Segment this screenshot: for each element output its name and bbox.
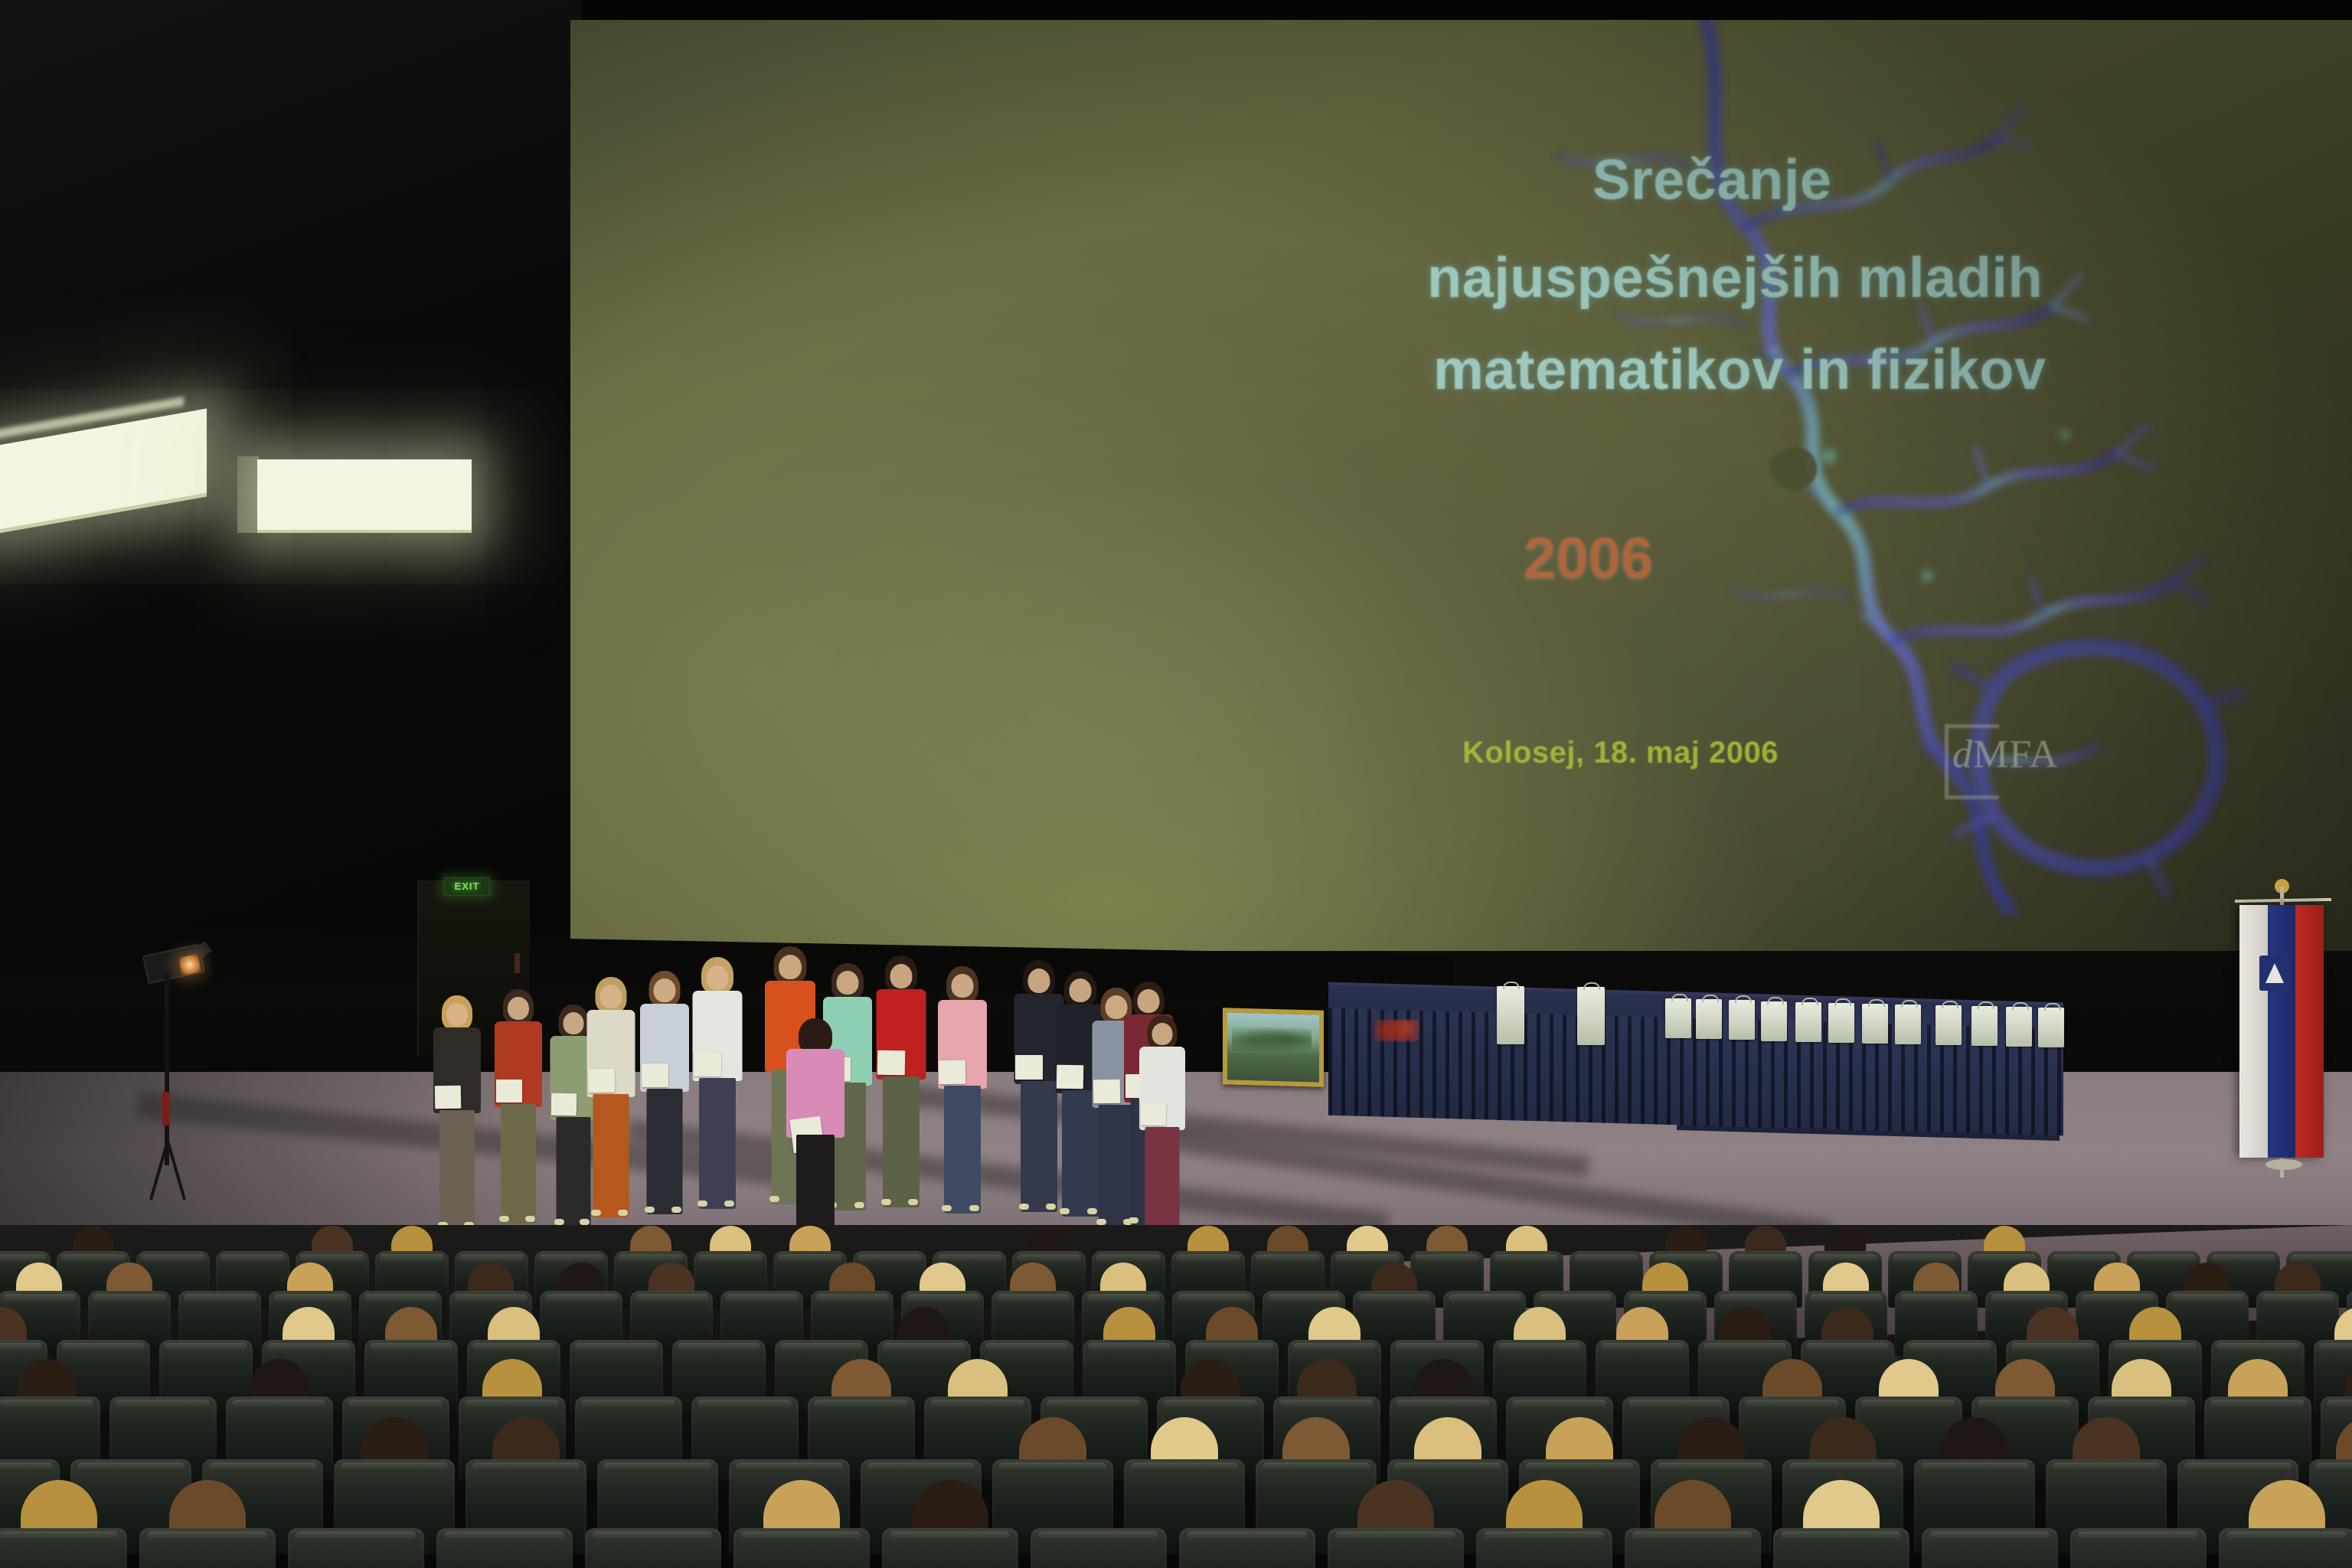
participant-head [779,955,802,979]
flag-stand-base [2265,1159,2302,1170]
participant-paper [435,1086,462,1109]
prize-bag [1497,986,1524,1044]
dmfa-logo: dMFA [1952,732,2059,777]
cinema-seat [436,1528,573,1568]
participant-shoe [1019,1204,1029,1210]
participant-shoe [881,1199,891,1205]
flag-stripe-white [2239,905,2268,1158]
participant-paper [1141,1103,1167,1126]
flag-stripe-blue [2268,905,2296,1158]
prize-bag [1828,1003,1854,1043]
participant-legs [439,1110,475,1230]
slide-year: 2006 [1524,525,1653,592]
conductor [781,1018,850,1256]
slide-title-line-1: Srečanje [1592,152,1832,208]
cinema-seat [139,1528,276,1568]
participant-paper [939,1060,966,1085]
cinema-seat [2070,1528,2207,1568]
table-flower-decoration [1374,1020,1419,1041]
participant-shoe [580,1219,590,1225]
slovenian-flag [2239,879,2330,1178]
cinema-seat [288,1528,424,1568]
slide-title-line-3: matematikov in fizikov [1433,341,2047,398]
participant-paper [642,1063,668,1087]
slide-title-line-2: najuspešnejših mladih [1427,250,2043,306]
cinema-seat [0,1528,127,1568]
cinema-seat [1179,1528,1315,1568]
cinema-seat [1476,1528,1612,1568]
flag-coat-of-arms [2259,955,2290,991]
cinema-seat [1922,1528,2058,1568]
dmfa-logo-d: d [1952,733,1973,776]
participant-legs [699,1078,736,1209]
stage-participant [582,977,639,1213]
participant-head [446,1003,468,1026]
participant-head [654,978,676,1002]
prize-bag [2038,1008,2064,1047]
prize-bag [1935,1005,1962,1045]
stage-light-leg [166,1140,186,1200]
participant-paper [1057,1065,1084,1089]
participant-paper [588,1069,616,1093]
slide-venue-date: Kolosej, 18. maj 2006 [1462,736,1779,770]
stage-light-pole [165,974,169,1165]
participant-head [508,997,529,1020]
participant-shoe [969,1205,979,1211]
participant-shoe [671,1207,681,1213]
stage-participant [1135,1015,1190,1233]
participant-paper [877,1050,906,1076]
participant-head [951,974,973,998]
stage-participant [490,989,547,1219]
participant-shoe [854,1202,864,1208]
prize-bag [1895,1004,1921,1044]
participant-legs [944,1086,981,1214]
participant-head [836,971,858,995]
participant-legs [883,1076,920,1207]
participant-shoe [942,1205,952,1211]
participant-legs [647,1089,683,1214]
participant-head [1138,989,1160,1013]
cinema-seat [1773,1528,1909,1568]
cinema-seat [2219,1528,2352,1568]
participant-head [707,965,729,990]
flag-stripe-red [2295,905,2324,1158]
participant-shoe [724,1200,734,1207]
title-slide: Srečanje najuspešnejših mladih matematik… [570,20,2352,951]
participant-legs [1145,1127,1180,1237]
participant-shoe [525,1216,535,1222]
prize-bag [1729,1000,1755,1040]
dmfa-logo-mfa: MFA [1973,733,2059,776]
participant-shoe [1096,1219,1106,1225]
participant-legs [593,1094,629,1217]
cinema-seat [1625,1528,1761,1568]
audience-seating [0,1225,2352,1568]
participant-paper [496,1080,522,1102]
stage-light-leg [149,1140,169,1200]
participant-shoe [591,1210,601,1216]
prize-bag [1761,1001,1787,1041]
prize-bag [1577,987,1605,1045]
prize-bag [1696,999,1722,1039]
cinema-seat [1031,1528,1167,1568]
participant-shoe [1060,1208,1070,1214]
projection-screen: Srečanje najuspešnejših mladih matematik… [570,20,2352,951]
participant-shoe [697,1200,707,1207]
stage-participant [635,971,694,1210]
participant-head [599,985,622,1008]
stage-participant [933,966,991,1208]
cinema-seat [585,1528,721,1568]
prize-bag [1795,1002,1821,1042]
cinema-seat [1328,1528,1464,1568]
participant-shoe [908,1199,918,1205]
participant-shoe [769,1196,779,1202]
participant-paper [1015,1055,1043,1080]
prize-bag [1971,1006,1998,1046]
participant-legs [501,1104,536,1223]
wall-light-panel-right [257,459,472,533]
prize-bag [2006,1007,2032,1047]
participant-paper [551,1093,577,1116]
participant-shoe [645,1207,655,1213]
prize-bag [1665,998,1691,1038]
participant-head [890,964,913,988]
cinema-seat [733,1528,870,1568]
stage-participant [871,955,931,1202]
participant-paper [1093,1080,1121,1104]
stage-participant [688,957,747,1204]
light-panel-divider [237,456,259,533]
prize-bag [1862,1004,1888,1044]
exit-sign: EXIT [444,877,490,896]
participant-head [1152,1023,1173,1045]
participant-head [1028,969,1050,993]
cinema-auditorium-photo: Srečanje najuspešnejših mladih matematik… [0,0,2352,1568]
stage-participant [429,995,485,1225]
cinema-seat [882,1528,1018,1568]
stage-light-red-marker [162,1092,170,1125]
framed-landscape-painting [1223,1008,1324,1086]
participant-shoe [499,1216,509,1222]
participant-head [563,1012,583,1034]
flag-banner [2239,905,2324,1158]
door-handle[interactable] [514,953,520,973]
stage-light-stand [134,949,241,1210]
participant-paper [694,1052,722,1077]
participant-shoe [618,1210,628,1216]
participant-shoe [554,1219,564,1225]
